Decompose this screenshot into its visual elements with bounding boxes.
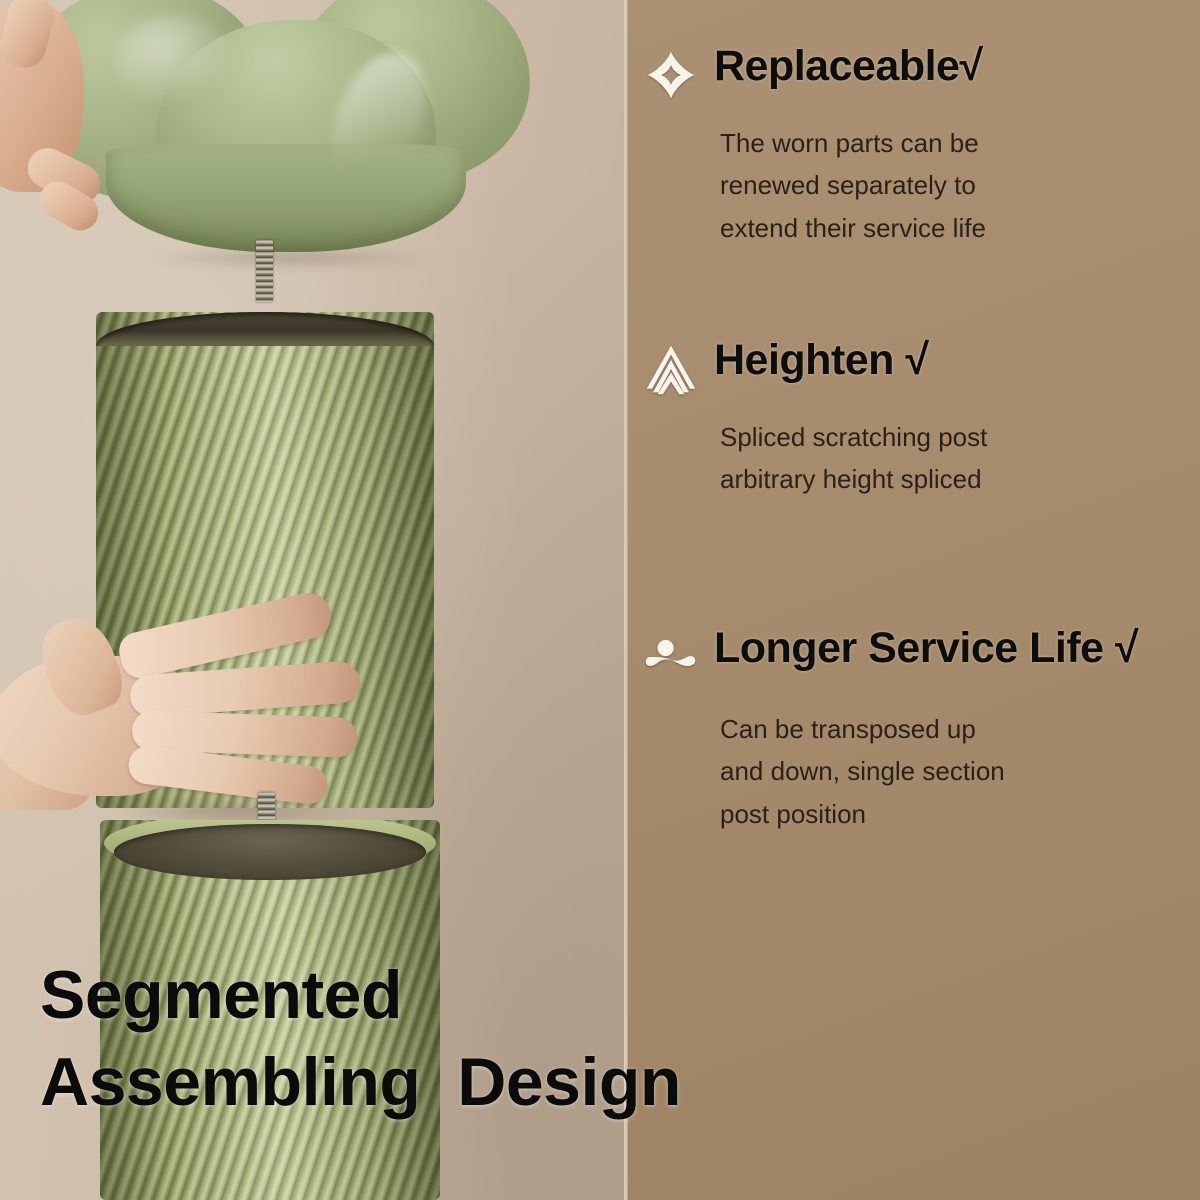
checkmark-icon: √ [905, 336, 928, 384]
feature-heighten-body: Spliced scratching post arbitrary height… [720, 416, 1184, 501]
body-line: arbitrary height spliced [720, 458, 1184, 500]
bottom-post-cap-plate [114, 824, 426, 880]
hand-holding-topper [0, 0, 154, 242]
body-line: and down, single section [720, 750, 1184, 792]
feature-replaceable-title: Replaceable√ [714, 42, 983, 90]
body-line: Can be transposed up [720, 708, 1184, 750]
body-line: The worn parts can be [720, 122, 1184, 164]
feature-heighten: Heighten √ Spliced scratching post arbit… [644, 336, 1184, 501]
feature-replaceable-body: The worn parts can be renewed separately… [720, 122, 1184, 249]
checkmark-icon: √ [1115, 624, 1138, 672]
infographic-page: Replaceable√ The worn parts can be renew… [0, 0, 1200, 1200]
hand-holding-post [0, 560, 350, 860]
checkmark-icon: √ [959, 42, 982, 90]
feature-replaceable-header: Replaceable√ [644, 42, 1184, 104]
body-line: extend their service life [720, 207, 1184, 249]
headline-line-2: Assembling Design [40, 1039, 1040, 1126]
body-line: Spliced scratching post [720, 416, 1184, 458]
threaded-connector-screw-top [256, 240, 273, 302]
bone-durability-icon [644, 628, 698, 686]
headline-line-1: Segmented [40, 957, 402, 1033]
body-line: renewed separately to [720, 164, 1184, 206]
feature-longer-header: Longer Service Life √ [644, 624, 1184, 686]
diamond-outline-icon [644, 46, 698, 104]
feature-title-text: Replaceable [714, 42, 959, 90]
body-line: post position [720, 793, 1184, 835]
topper-drop-shadow [140, 246, 440, 270]
feature-heighten-title: Heighten √ [714, 336, 929, 384]
feature-longer-service-life: Longer Service Life √ Can be transposed … [644, 624, 1184, 835]
feature-title-text: Longer Service Life [714, 624, 1115, 672]
main-headline: Segmented Assembling Design [40, 952, 1040, 1126]
feature-replaceable: Replaceable√ The worn parts can be renew… [644, 42, 1184, 249]
feature-longer-title: Longer Service Life √ [714, 624, 1138, 672]
topper-base [106, 144, 466, 252]
feature-longer-body: Can be transposed up and down, single se… [720, 708, 1184, 835]
feature-title-text: Heighten [714, 336, 905, 384]
stacked-chevrons-up-icon [644, 340, 698, 398]
feature-heighten-header: Heighten √ [644, 336, 1184, 398]
